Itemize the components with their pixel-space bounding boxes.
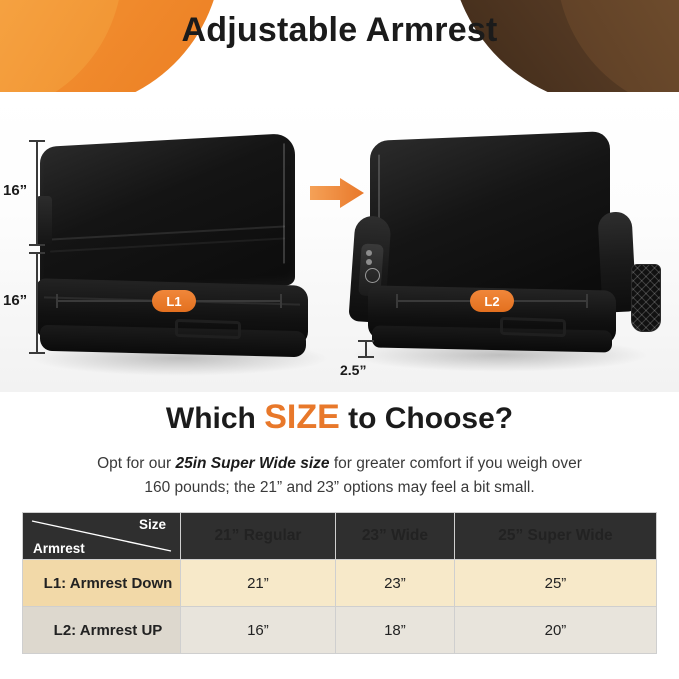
row-1-value-1: 21” xyxy=(181,560,336,607)
row-2-label: L2: Armrest UP xyxy=(23,607,181,654)
right-arrow-icon xyxy=(310,176,364,210)
size-title-suffix: to Choose? xyxy=(340,402,513,435)
description-line-2: 160 pounds; the 21” and 23” options may … xyxy=(144,479,534,496)
dim-l1-cap-right xyxy=(280,294,282,308)
poster-root: Adjustable Armrest 16” xyxy=(0,0,679,679)
dim-label-2-5: 2.5” xyxy=(340,362,366,378)
table-row: L2: Armrest UP 16” 18” 20” xyxy=(23,607,657,654)
row-1-value-2: 23” xyxy=(335,560,454,607)
dim-l1-cap-left xyxy=(56,294,58,308)
table-header-col-3: 25” Super Wide xyxy=(454,513,656,560)
dim-vertical-bottom-cap-bottom xyxy=(29,352,45,354)
measure-pill-l1: L1 xyxy=(152,290,196,312)
page-title: Adjustable Armrest xyxy=(0,11,679,50)
description-highlight: 25in Super Wide size xyxy=(175,455,329,472)
header-banner: Adjustable Armrest xyxy=(0,0,679,98)
size-title-prefix: Which xyxy=(166,402,264,435)
row-2-value-2: 18” xyxy=(335,607,454,654)
carry-strap-left xyxy=(175,319,241,339)
table-header-row: Size Armrest 21” Regular 23” Wide 25” Su… xyxy=(23,513,657,560)
backrest-seam-secondary xyxy=(50,237,285,252)
table-corner-cell: Size Armrest xyxy=(23,513,181,560)
chair-backrest-left xyxy=(40,133,295,299)
corner-label-armrest: Armrest xyxy=(33,541,85,556)
dim-25-cap-bottom xyxy=(358,356,374,358)
description-part-a: Opt for our xyxy=(97,455,175,472)
size-comparison-table: Size Armrest 21” Regular 23” Wide 25” Su… xyxy=(22,512,657,654)
row-1-label: L1: Armrest Down xyxy=(23,560,181,607)
size-section-title: Which SIZE to Choose? xyxy=(0,398,679,437)
dim-vertical-bottom-cap-top xyxy=(29,252,45,254)
carry-strap-right xyxy=(500,317,566,337)
size-section-description: Opt for our 25in Super Wide size for gre… xyxy=(36,452,643,500)
measure-pill-l2: L2 xyxy=(470,290,514,312)
row-1-value-3: 25” xyxy=(454,560,656,607)
chair-backrest-right xyxy=(370,131,610,301)
corner-label-size: Size xyxy=(139,517,166,532)
control-dot-one xyxy=(366,250,372,256)
zipper-icon xyxy=(283,143,285,263)
dim-25-cap-top xyxy=(358,340,374,342)
backrest-seam xyxy=(50,225,285,240)
dim-vertical-bottom-line xyxy=(36,252,38,354)
dim-vertical-top-cap-bottom xyxy=(29,244,45,246)
table-header-col-1: 21” Regular xyxy=(181,513,336,560)
size-title-accent: SIZE xyxy=(264,398,340,436)
dim-vertical-top-cap-top xyxy=(29,140,45,142)
dim-label-bottom-16: 16” xyxy=(3,292,27,309)
control-circle-icon xyxy=(365,268,380,283)
control-dot-two xyxy=(366,259,372,265)
mesh-cup-holder xyxy=(631,264,661,332)
dim-l2-cap-left xyxy=(396,294,398,308)
row-2-value-3: 20” xyxy=(454,607,656,654)
row-2-value-1: 16” xyxy=(181,607,336,654)
description-part-c: for greater comfort if you weigh over xyxy=(330,455,582,472)
product-illustration: 16” 16” L1 xyxy=(0,92,679,392)
table-row: L1: Armrest Down 21” 23” 25” xyxy=(23,560,657,607)
dim-l2-cap-right xyxy=(586,294,588,308)
side-pocket-left xyxy=(36,196,52,246)
dim-label-top-16: 16” xyxy=(3,182,27,199)
dim-vertical-top-line xyxy=(36,140,38,244)
table-header-col-2: 23” Wide xyxy=(335,513,454,560)
